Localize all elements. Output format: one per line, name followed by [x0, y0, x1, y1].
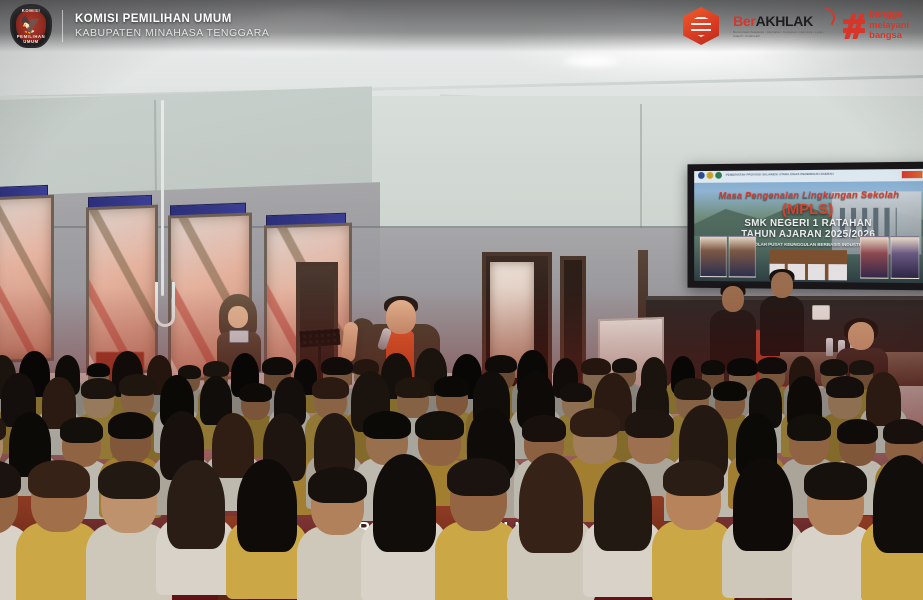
- hair: [363, 411, 410, 439]
- hair: [713, 381, 747, 401]
- berakhlak-prefix: Ber: [733, 13, 755, 29]
- audience-member: [44, 382, 74, 417]
- organization-name: KOMISI PEMILIHAN UMUM: [75, 13, 269, 27]
- face: [722, 286, 744, 312]
- audience-member: [170, 468, 222, 528]
- audience-member: [470, 415, 512, 463]
- organization-region: KABUPATEN MINAHASA TENGGARA: [75, 27, 269, 39]
- student-audience: [0, 346, 923, 600]
- screen-official-portrait: [700, 236, 727, 277]
- hair: [239, 383, 271, 402]
- hair: [674, 378, 711, 400]
- province-emblem-icon: [707, 172, 714, 179]
- hair: [308, 467, 367, 502]
- hair: [312, 377, 349, 399]
- hashtag-icon: [843, 13, 865, 39]
- face: [386, 300, 416, 334]
- audience-member: [628, 416, 671, 465]
- partner-logos: BerAKHLAK Berorientasi Pelayanan • Akunt…: [683, 7, 923, 45]
- berakhlak-logo: BerAKHLAK Berorientasi Pelayanan • Akunt…: [733, 14, 829, 38]
- audience-row: [0, 462, 923, 533]
- swoosh-icon: [820, 7, 838, 25]
- hair: [262, 357, 292, 375]
- audience-member: [666, 468, 721, 531]
- bangga-line-3: bangsa: [869, 31, 909, 42]
- hair: [849, 360, 875, 375]
- audience-member: [214, 419, 252, 463]
- hair: [60, 417, 104, 443]
- hanging-cable-loop: [155, 282, 175, 327]
- header-divider: [62, 10, 63, 42]
- hair: [519, 453, 584, 553]
- berakhlak-values-subtitle: Berorientasi Pelayanan • Akuntabel • Kom…: [733, 30, 829, 38]
- hair: [395, 377, 431, 398]
- hair: [321, 357, 352, 376]
- kpu-ring-bottom-text: PEMILIHAN UMUM: [10, 34, 52, 44]
- berakhlak-suffix: AKHLAK: [756, 13, 813, 29]
- hair: [373, 454, 437, 552]
- window: [0, 195, 54, 363]
- hair: [581, 358, 610, 375]
- screen-topbar-accent: [902, 171, 923, 178]
- audience-member: [276, 382, 304, 414]
- audience-member: [839, 425, 876, 468]
- audience-member: [101, 470, 157, 534]
- audience-member: [876, 464, 923, 530]
- poster-canvas: PEMERINTAH PROVINSI SULAWESI UTARA DINAS…: [0, 0, 923, 600]
- berakhlak-wordmark: BerAKHLAK: [733, 14, 829, 28]
- screen-official-portrait: [729, 236, 756, 278]
- audience-member: [110, 418, 151, 465]
- hair: [663, 460, 725, 497]
- wall-socket: [812, 305, 830, 320]
- audience-member: [450, 467, 507, 533]
- audience-member: [522, 462, 580, 529]
- screen-topbar-left: PEMERINTAH PROVINSI SULAWESI UTARA DINAS…: [698, 171, 834, 179]
- screen-topbar-text: PEMERINTAH PROVINSI SULAWESI UTARA DINAS…: [726, 173, 834, 177]
- hair: [594, 462, 652, 552]
- phone-icon: [229, 330, 249, 343]
- event-photograph: PEMERINTAH PROVINSI SULAWESI UTARA DINAS…: [0, 0, 923, 600]
- audience-member: [0, 469, 18, 536]
- audience-member: [31, 469, 87, 533]
- audience-member: [418, 418, 461, 467]
- audience-member: [202, 381, 230, 413]
- audience-member: [316, 419, 353, 462]
- audience-member: [519, 376, 553, 415]
- audience-member: [240, 468, 294, 530]
- hair: [81, 378, 116, 399]
- hair: [447, 458, 511, 496]
- audience-member: [241, 388, 270, 421]
- audience-member: [736, 467, 790, 529]
- ceiling-light: [560, 54, 624, 68]
- berakhlak-cube-icon: [683, 7, 719, 45]
- audience-member: [83, 383, 114, 419]
- hair: [167, 460, 225, 550]
- audience-member: [376, 463, 433, 529]
- audience-member: [807, 471, 864, 537]
- header-bar: KOMISI 🦅 PEMILIHAN UMUM KOMISI PEMILIHAN…: [0, 0, 923, 52]
- face: [228, 306, 248, 328]
- audience-member: [828, 381, 862, 420]
- hair: [757, 357, 786, 374]
- kpu-logo-icon: KOMISI 🦅 PEMILIHAN UMUM: [10, 4, 52, 48]
- face: [771, 272, 793, 298]
- bangga-melayani-bangsa-logo: bangga melayani bangsa: [843, 10, 909, 42]
- hair: [787, 414, 832, 441]
- hair: [804, 462, 868, 500]
- audience-member: [265, 420, 304, 465]
- hair: [119, 374, 156, 396]
- screen-acronym: (MPLS): [694, 200, 923, 218]
- hair: [570, 408, 619, 437]
- school-emblem-icon: [715, 172, 722, 179]
- audience-member: [597, 470, 649, 530]
- audience-member: [868, 377, 899, 413]
- hair: [727, 358, 757, 376]
- hair: [826, 376, 864, 399]
- screen-official-portrait: [891, 236, 920, 279]
- audience-member: [162, 417, 202, 463]
- projector-screen: PEMERINTAH PROVINSI SULAWESI UTARA DINAS…: [688, 162, 923, 291]
- audience-member: [573, 415, 617, 466]
- hair: [203, 361, 230, 377]
- hair: [560, 383, 591, 402]
- hair: [28, 460, 91, 497]
- hair: [612, 358, 638, 373]
- hair: [873, 455, 923, 553]
- audience-member: [682, 412, 725, 461]
- hair: [820, 359, 848, 376]
- hair: [434, 376, 470, 397]
- garuda-emblem-icon: [698, 172, 705, 179]
- hair: [237, 459, 297, 552]
- hair: [837, 419, 878, 444]
- screen-school-name: SMK NEGERI 1 RATAHAN: [694, 218, 923, 229]
- audience-member: [232, 357, 257, 386]
- bangga-wordmark: bangga melayani bangsa: [869, 10, 909, 42]
- hair: [415, 411, 463, 440]
- hair: [522, 415, 567, 442]
- audience-member: [751, 383, 780, 416]
- organization-name-block: KOMISI PEMILIHAN UMUM KABUPATEN MINAHASA…: [75, 13, 269, 39]
- hair: [866, 372, 901, 425]
- audience-member: [789, 420, 829, 466]
- hair: [625, 409, 673, 438]
- audience-member: [3, 378, 34, 414]
- audience-member: [738, 419, 775, 462]
- hanging-cable: [161, 100, 164, 296]
- audience-member: [162, 380, 192, 415]
- audience-member: [11, 418, 49, 462]
- hair: [701, 360, 726, 375]
- screen-official-portrait: [860, 236, 888, 279]
- audience-member: [789, 381, 820, 417]
- screen-topbar: PEMERINTAH PROVINSI SULAWESI UTARA DINAS…: [694, 169, 923, 183]
- hair: [733, 458, 793, 551]
- garuda-icon: 🦅: [20, 17, 41, 34]
- hair: [98, 461, 161, 498]
- kpu-ring-top-text: KOMISI: [10, 8, 52, 13]
- hair: [87, 363, 111, 377]
- hair: [108, 412, 154, 439]
- audience-member: [311, 476, 364, 537]
- hair: [883, 419, 923, 444]
